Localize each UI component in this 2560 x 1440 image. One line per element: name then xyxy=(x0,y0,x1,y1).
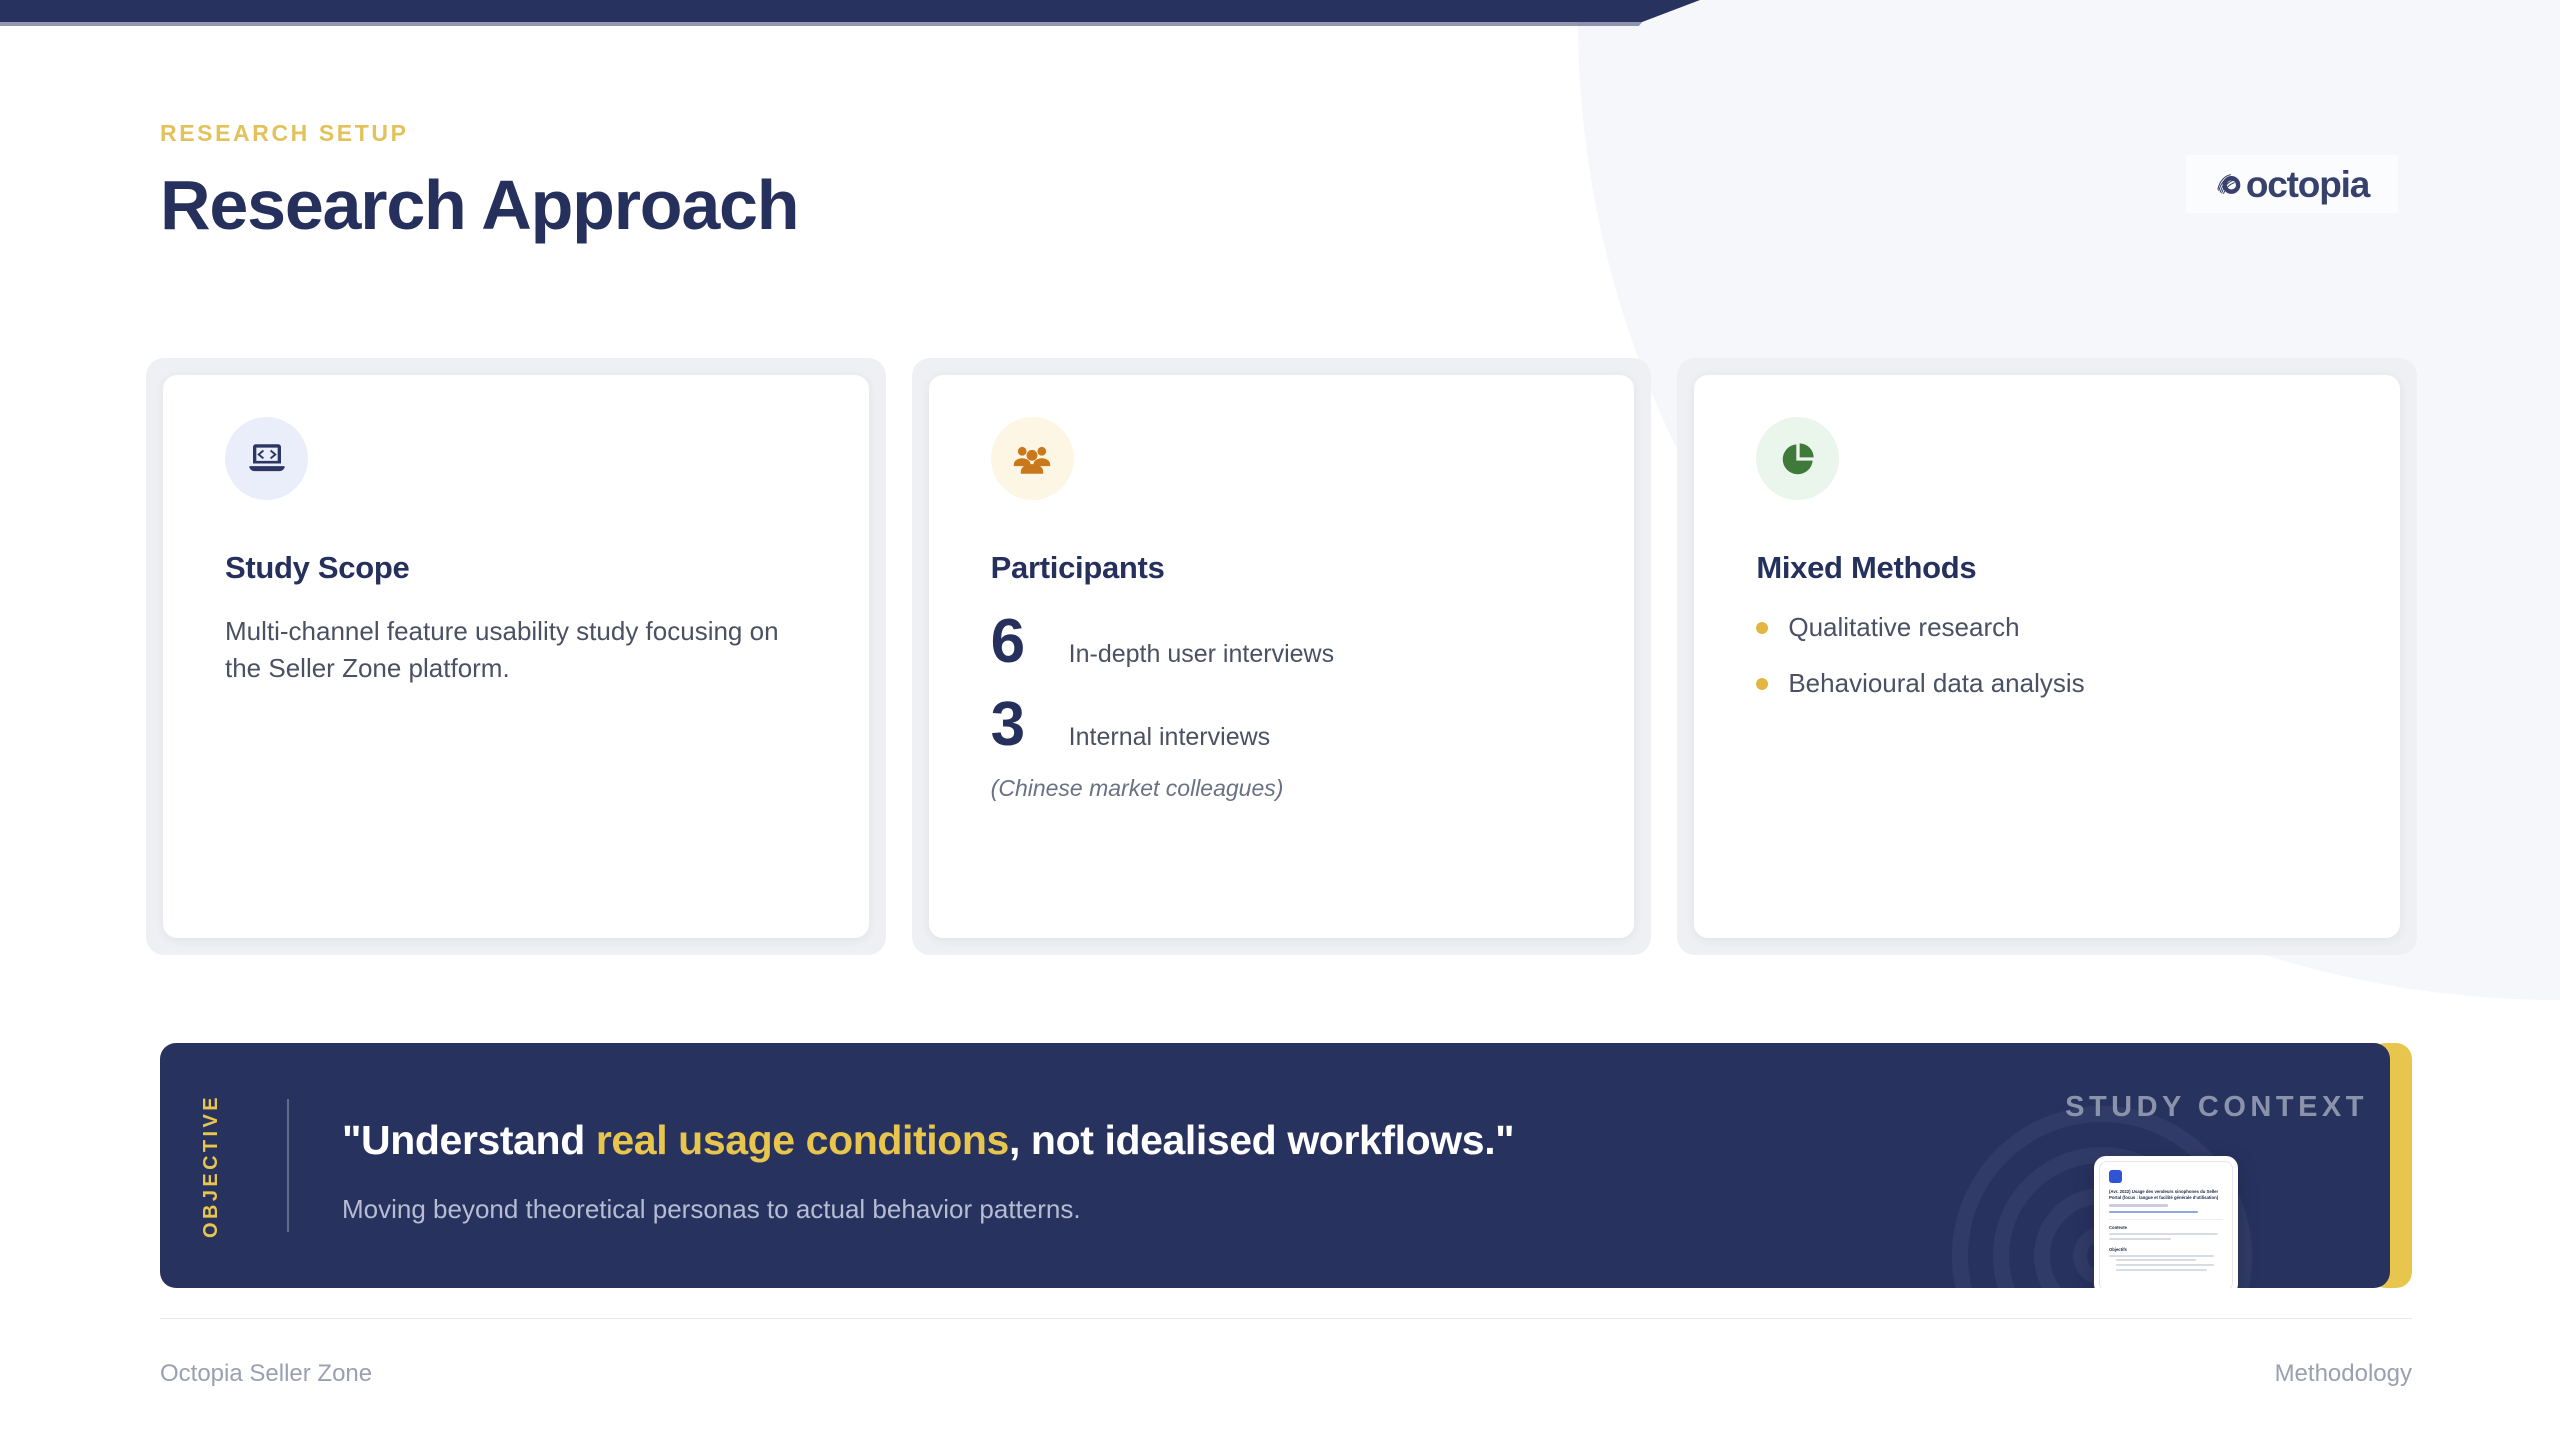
card-title: Study Scope xyxy=(225,550,807,586)
eyebrow-label: RESEARCH SETUP xyxy=(160,120,798,147)
document-thumbnail[interactable]: (Avr. 2022) Usage des vendeurs sinophone… xyxy=(2094,1156,2238,1288)
bullet-dot-icon xyxy=(1756,678,1768,690)
top-accent-bar-shadow xyxy=(0,22,1700,26)
study-context-label: STUDY CONTEXT xyxy=(2065,1091,2368,1124)
quote-part-1: "Understand xyxy=(342,1117,596,1163)
card-body-text: Multi-channel feature usability study fo… xyxy=(225,613,807,688)
methods-bullet-list: Qualitative research Behavioural data an… xyxy=(1756,612,2338,699)
stat-label: In-depth user interviews xyxy=(1069,640,1334,669)
logo-wordmark: octopia xyxy=(2246,166,2369,203)
card-frame-study-scope: Study Scope Multi-channel feature usabil… xyxy=(146,358,886,955)
card-mixed-methods: Mixed Methods Qualitative research Behav… xyxy=(1694,375,2400,938)
cards-row: Study Scope Multi-channel feature usabil… xyxy=(146,358,2417,955)
header-block: RESEARCH SETUP Research Approach xyxy=(160,120,798,243)
list-item: Behavioural data analysis xyxy=(1756,668,2338,699)
objective-vertical-label: OBJECTIVE xyxy=(200,1043,223,1288)
pie-chart-icon xyxy=(1778,439,1818,479)
page-title: Research Approach xyxy=(160,169,798,243)
document-link-line xyxy=(2109,1211,2198,1214)
document-thumbnail-page: (Avr. 2022) Usage des vendeurs sinophone… xyxy=(2099,1161,2233,1288)
objective-divider xyxy=(287,1099,289,1232)
card-participants: Participants 6 In-depth user interviews … xyxy=(929,375,1635,938)
laptop-code-icon xyxy=(246,438,288,480)
footer-right-label: Methodology xyxy=(2275,1360,2412,1388)
document-thumbnail-title: (Avr. 2022) Usage des vendeurs sinophone… xyxy=(2109,1189,2223,1201)
stat-row: 6 In-depth user interviews xyxy=(991,606,1573,677)
quote-part-2: , not idealised workflows." xyxy=(1009,1117,1514,1163)
list-item-label: Qualitative research xyxy=(1788,612,2019,643)
slide-root: RESEARCH SETUP Research Approach octopia xyxy=(0,0,2560,1440)
card-frame-mixed-methods: Mixed Methods Qualitative research Behav… xyxy=(1677,358,2417,955)
banner-content: "Understand real usage conditions, not i… xyxy=(342,1117,1514,1225)
octopia-swirl-icon xyxy=(2215,169,2245,199)
document-section-heading: Objectifs xyxy=(2109,1247,2223,1252)
stat-note: (Chinese market colleagues) xyxy=(991,775,1573,802)
list-item: Qualitative research xyxy=(1756,612,2338,643)
document-section-heading: Contexte xyxy=(2109,1225,2223,1230)
objective-quote: "Understand real usage conditions, not i… xyxy=(342,1117,1514,1164)
top-accent-bar xyxy=(0,0,1700,22)
card-title: Mixed Methods xyxy=(1756,550,2338,586)
participant-stats: 6 In-depth user interviews 3 Internal in… xyxy=(991,606,1573,802)
icon-badge-participants xyxy=(991,417,1074,500)
document-divider xyxy=(2109,1219,2223,1220)
stat-value: 6 xyxy=(991,606,1049,677)
icon-badge-mixed-methods xyxy=(1756,417,1839,500)
card-title: Participants xyxy=(991,550,1573,586)
card-frame-participants: Participants 6 In-depth user interviews … xyxy=(912,358,1652,955)
stat-value: 3 xyxy=(991,689,1049,760)
document-lock-icon xyxy=(2109,1170,2122,1183)
icon-badge-study-scope xyxy=(225,417,308,500)
stat-label: Internal interviews xyxy=(1069,723,1270,752)
brand-logo: octopia xyxy=(2186,155,2398,213)
footer-divider xyxy=(160,1318,2412,1319)
list-item-label: Behavioural data analysis xyxy=(1788,668,2084,699)
stat-row: 3 Internal interviews xyxy=(991,689,1573,760)
footer-left-label: Octopia Seller Zone xyxy=(160,1360,372,1388)
card-study-scope: Study Scope Multi-channel feature usabil… xyxy=(163,375,869,938)
banner-body: OBJECTIVE "Understand real usage conditi… xyxy=(160,1043,2390,1288)
users-group-icon xyxy=(1011,438,1053,480)
bullet-dot-icon xyxy=(1756,622,1768,634)
document-meta-line xyxy=(2109,1204,2168,1207)
quote-highlight: real usage conditions xyxy=(596,1117,1009,1163)
objective-banner: OBJECTIVE "Understand real usage conditi… xyxy=(160,1043,2412,1288)
objective-subquote: Moving beyond theoretical personas to ac… xyxy=(342,1194,1514,1225)
footer: Octopia Seller Zone Methodology xyxy=(160,1360,2412,1388)
